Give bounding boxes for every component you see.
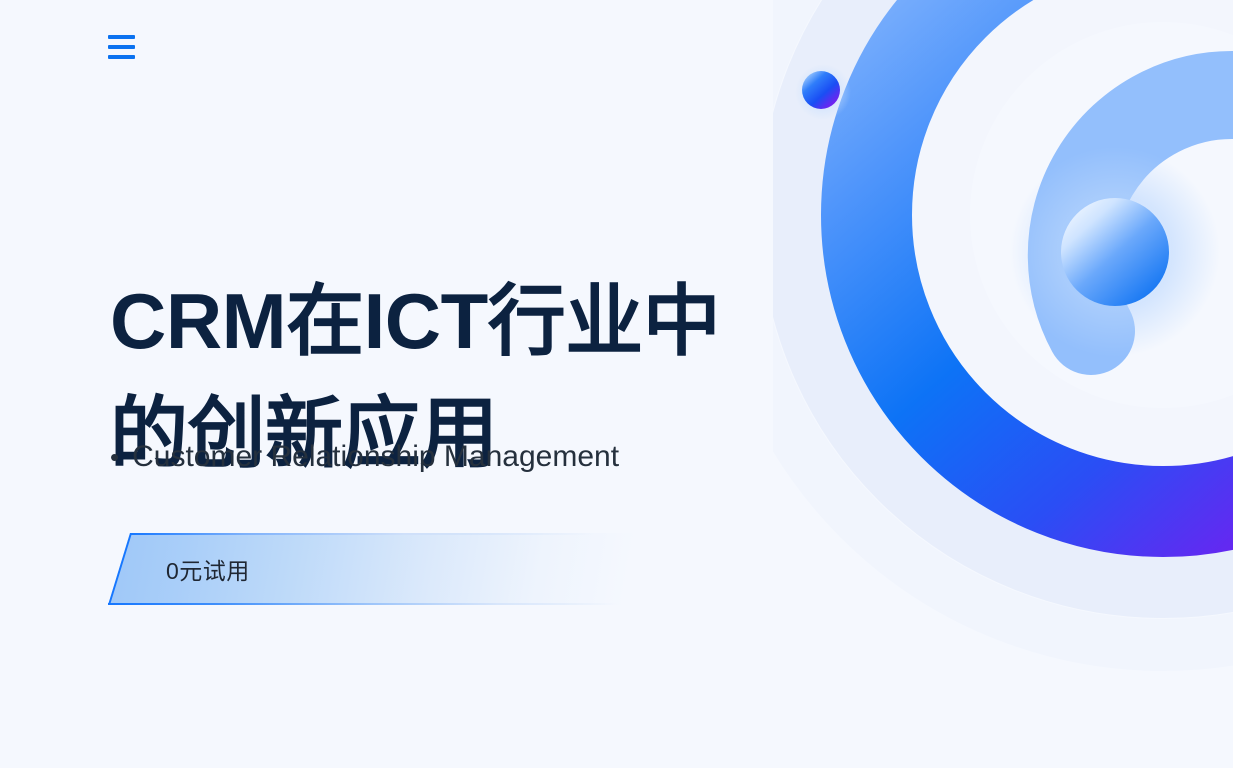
- bullet-icon: •: [110, 437, 119, 477]
- hamburger-menu-icon[interactable]: [108, 33, 138, 61]
- decor-main-ring: [867, 0, 1233, 511]
- small-sphere: [802, 71, 840, 109]
- page-subtitle-text: Customer Relationship Management: [132, 437, 619, 477]
- decor-arc-gap: [941, 0, 1233, 437]
- slide-canvas: CRM在ICT行业中 的创新应用 • Customer Relationship…: [0, 0, 1233, 768]
- decor-large-sphere: [1061, 198, 1169, 306]
- free-trial-label: 0元试用: [166, 533, 250, 605]
- hamburger-bar-middle: [108, 45, 135, 49]
- hamburger-bar-bottom: [108, 55, 135, 59]
- hamburger-bar-top: [108, 35, 135, 39]
- decor-large-sphere-glow: [1010, 147, 1220, 357]
- decor-inner-arc: [1072, 95, 1233, 331]
- small-sphere-glow: [795, 64, 851, 120]
- decor-small-sphere-layer: [795, 64, 851, 120]
- free-trial-banner[interactable]: 0元试用: [108, 533, 658, 605]
- page-subtitle: • Customer Relationship Management: [110, 437, 619, 477]
